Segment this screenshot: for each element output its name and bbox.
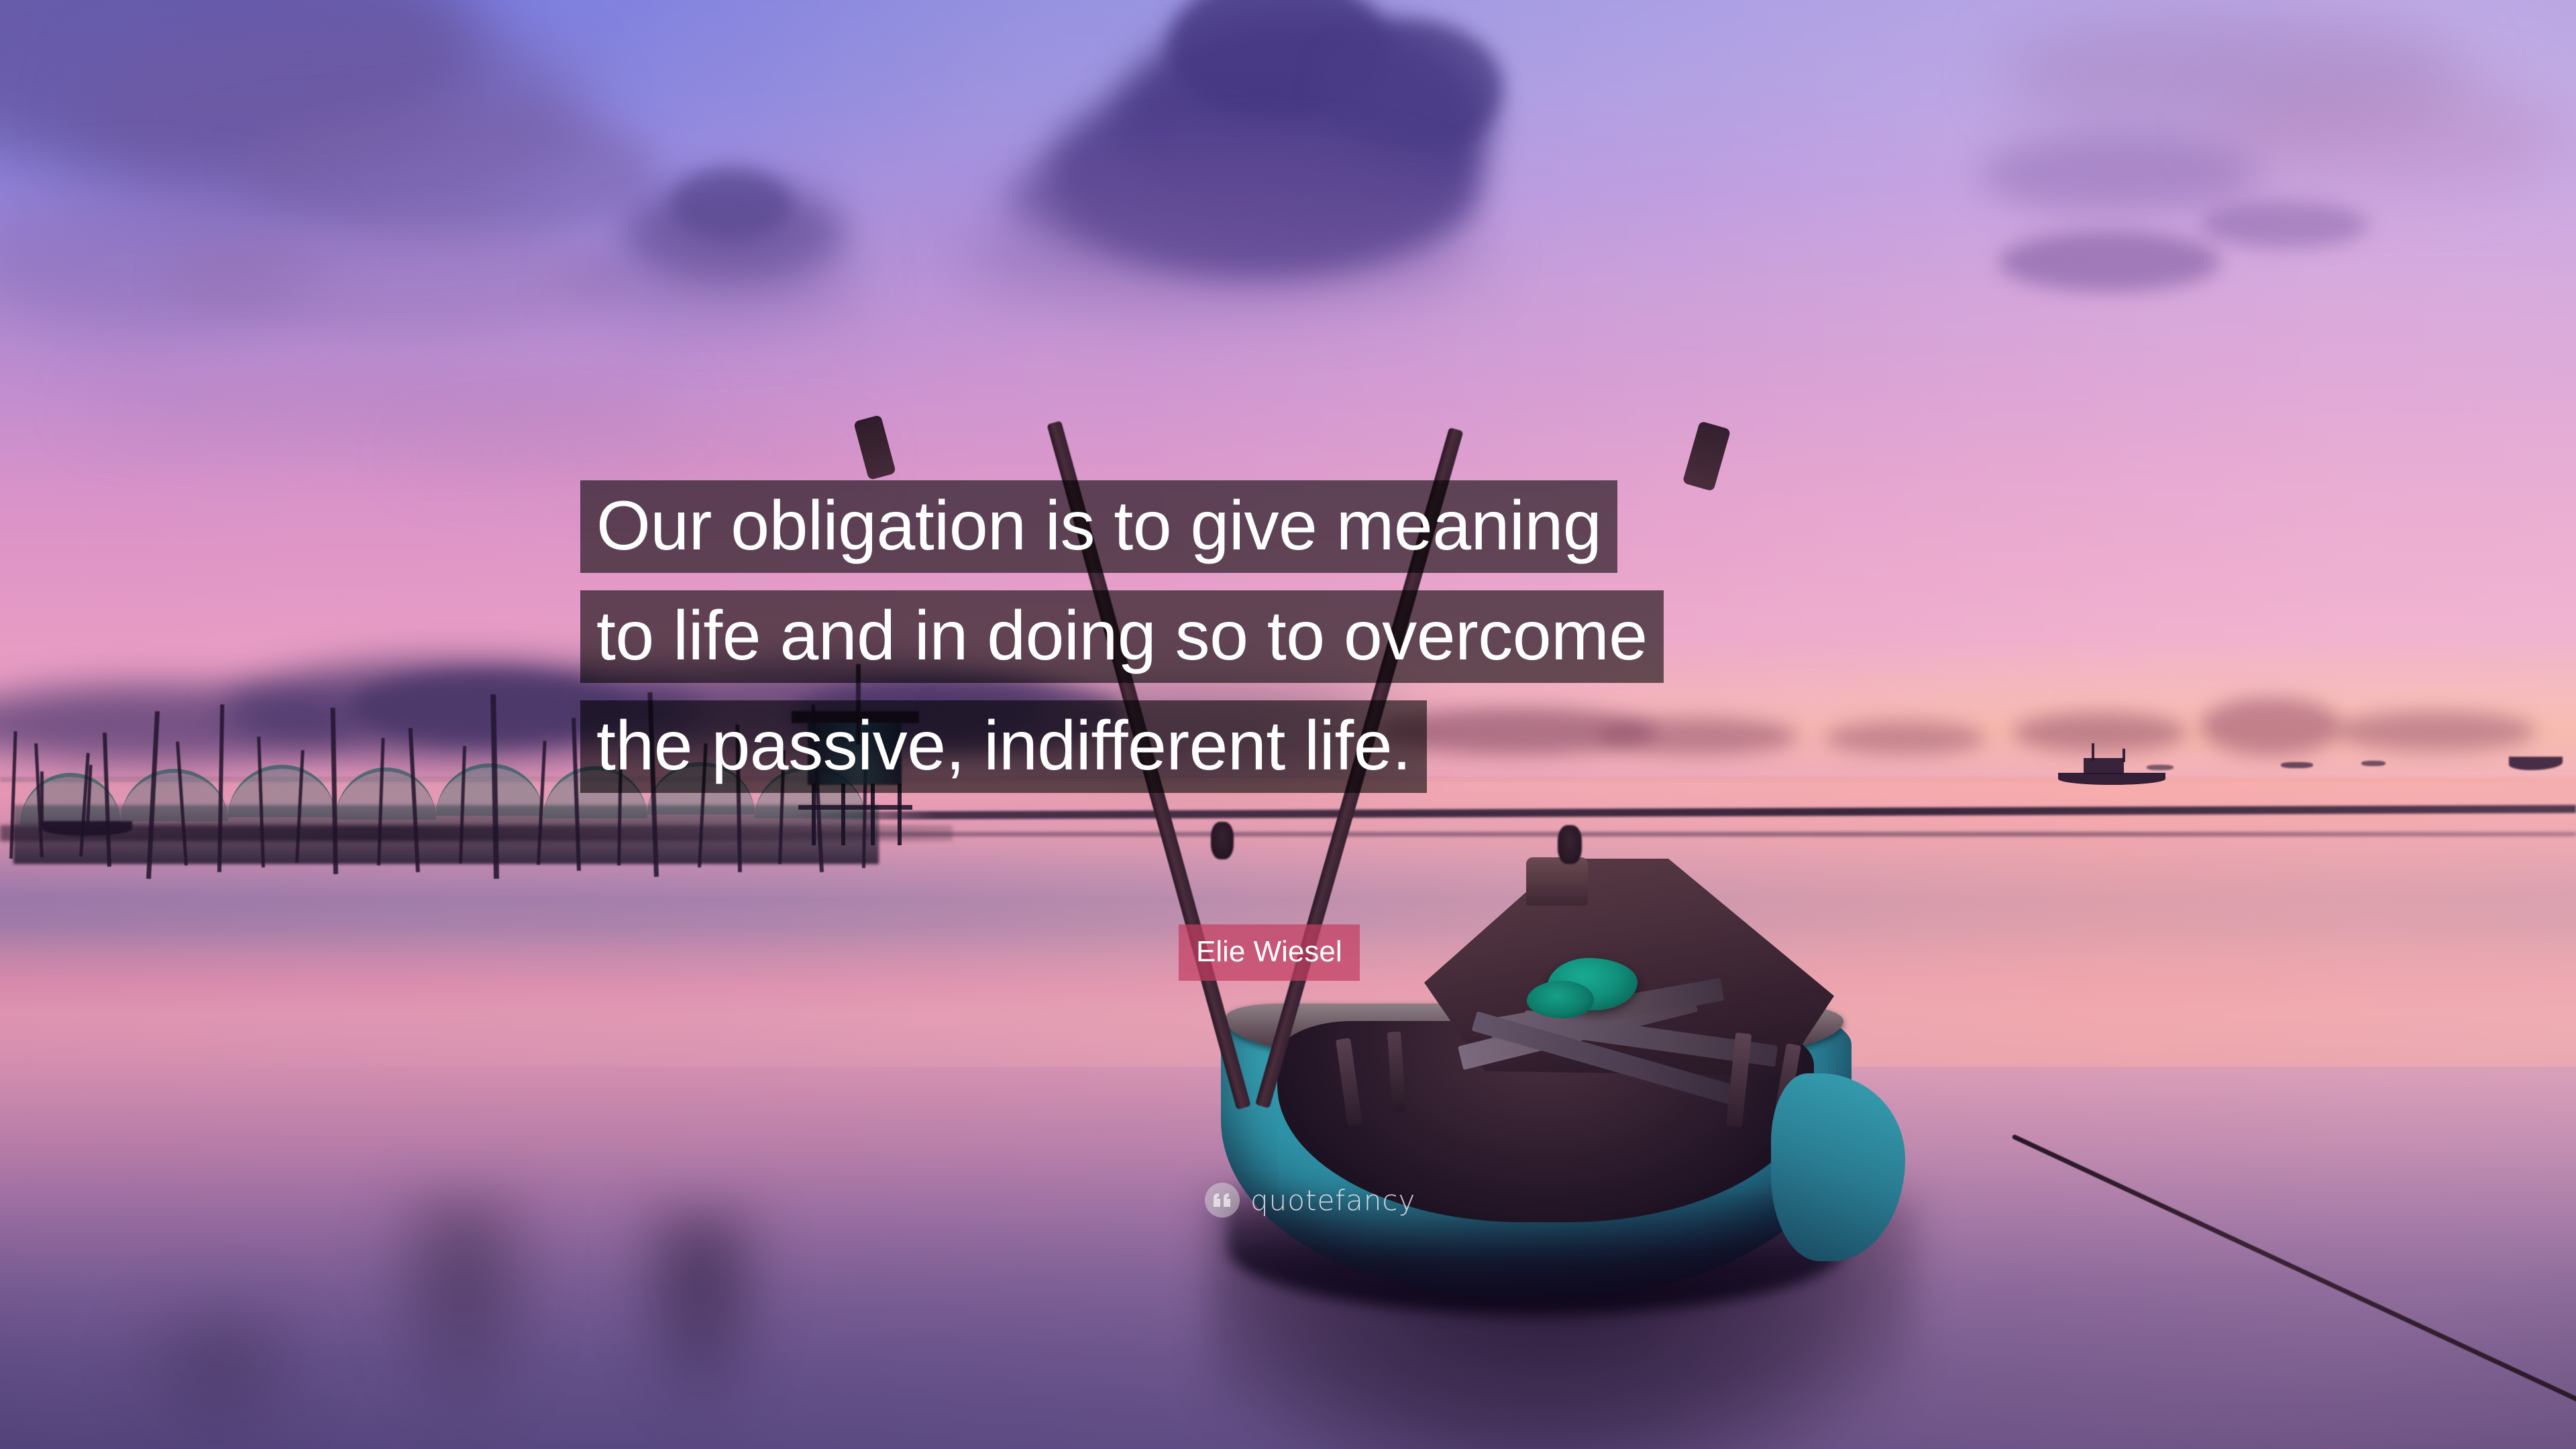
quote-line-2: to life and in doing so to overcome (580, 590, 1664, 683)
oar-lashing (1558, 825, 1582, 864)
sandbar-reflection (738, 832, 2576, 837)
wooden-boat (1301, 872, 2053, 1449)
boat-bow-post (1526, 857, 1588, 906)
water-reflection (376, 1194, 550, 1436)
boat-hull (2058, 773, 2165, 785)
cloud (2200, 201, 2368, 248)
cloud (241, 101, 657, 241)
green-cloth-bundle (1527, 981, 1594, 1018)
water-reflection (121, 1301, 322, 1449)
distant-boat (2281, 762, 2313, 768)
oar-lashing (1211, 822, 1234, 859)
quote-line-1: Our obligation is to give meaning (580, 480, 1617, 573)
author-name-badge: Elie Wiesel (1179, 924, 1360, 981)
cloud (1999, 231, 2220, 292)
boat-cabin (2084, 758, 2124, 774)
cloud (959, 195, 1483, 309)
hut-platform (798, 805, 912, 810)
cloud (168, 221, 624, 335)
quote-block: Our obligation is to give meaning to lif… (580, 480, 2002, 793)
bamboo-pole (40, 771, 44, 825)
cloud (80, 376, 684, 436)
cloud (2334, 711, 2536, 751)
quotefancy-brand-text: quotefancy (1250, 1184, 1415, 1217)
water-reflection (624, 1207, 778, 1429)
distant-boat (2147, 765, 2173, 770)
quote-poster: Our obligation is to give meaning to lif… (0, 0, 2576, 1449)
cloud (1315, 20, 1503, 154)
quotefancy-watermark: quotefancy (1205, 1183, 1415, 1218)
shore-strip (0, 825, 953, 841)
quote-line-3: the passive, indifferent life. (580, 700, 1427, 793)
boat-mast (2092, 743, 2094, 761)
cloud (402, 429, 872, 476)
boat-mast (2123, 749, 2125, 762)
quote-mark-icon (1205, 1183, 1240, 1218)
distant-boat (2361, 761, 2385, 766)
cloud (2200, 698, 2341, 755)
cloud (2214, 80, 2576, 188)
cloud (577, 235, 859, 322)
cloud (671, 168, 792, 241)
